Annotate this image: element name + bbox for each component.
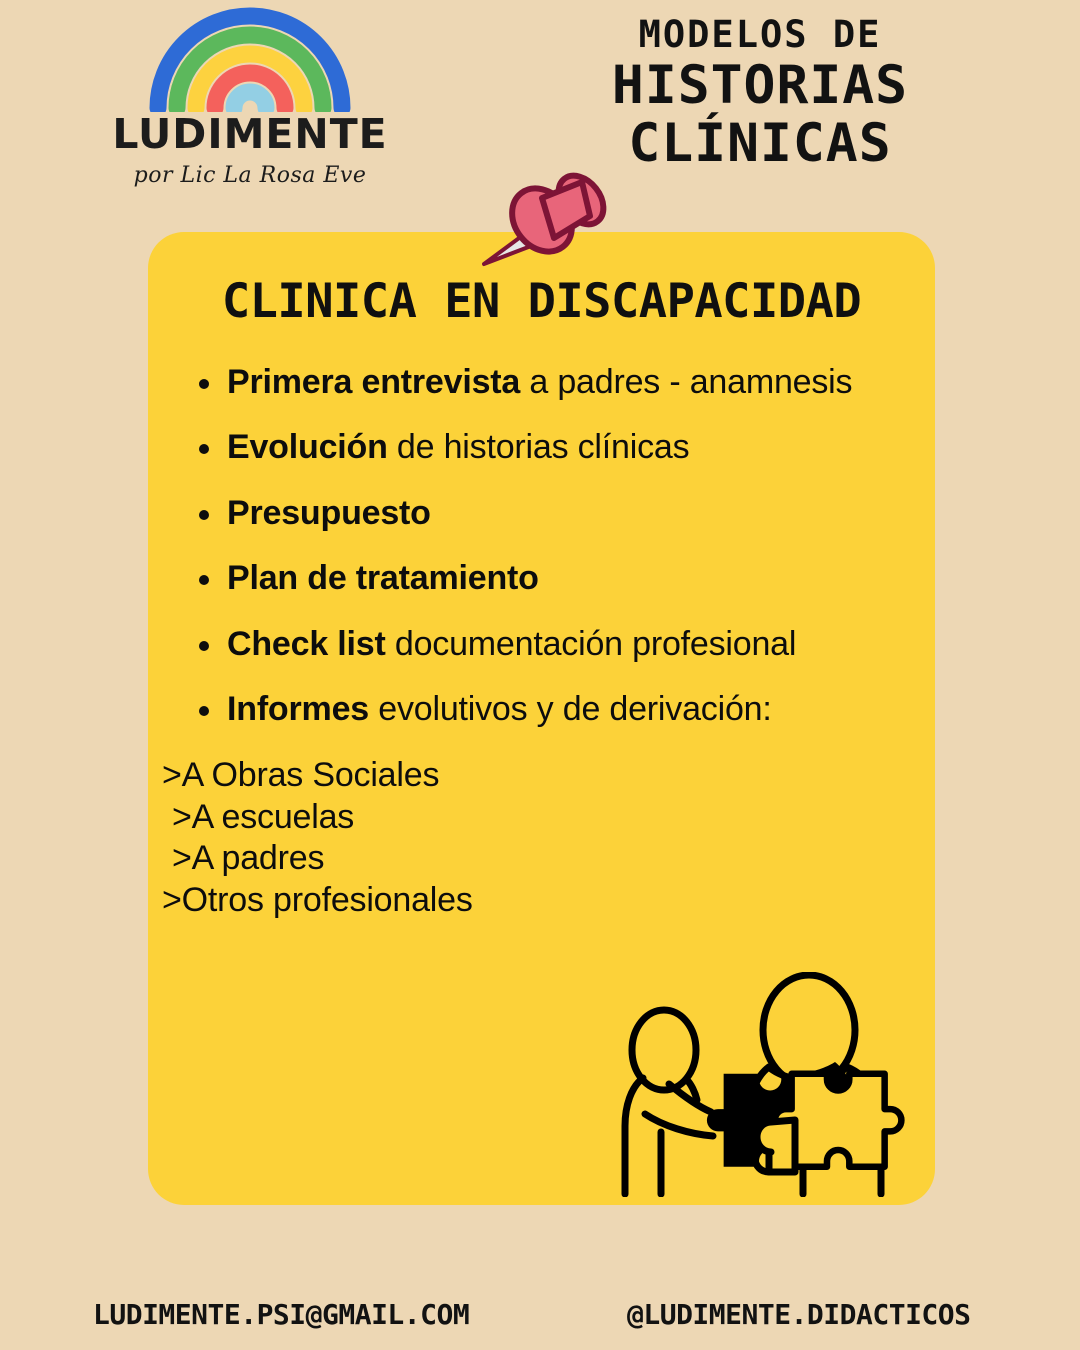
list-item-bold: Check list xyxy=(227,625,386,663)
list-item-rest: de historias clínicas xyxy=(388,428,690,466)
poster-title-line2: HISTORIAS CLÍNICAS xyxy=(480,57,1040,174)
content-card: CLINICA EN DISCAPACIDAD Primera entrevis… xyxy=(148,232,935,1205)
derivation-sub-list: >A Obras Sociales >A escuelas >A padres … xyxy=(148,755,935,921)
brand-logo-block: LUDIMENTE por Lic La Rosa Eve xyxy=(100,4,400,188)
list-item-bold: Evolución xyxy=(227,428,388,466)
list-item-rest: documentación profesional xyxy=(386,625,797,663)
sub-list-item: >A padres xyxy=(162,838,935,879)
list-item: Check list documentación profesional xyxy=(199,625,887,663)
list-item-rest: a padres - anamnesis xyxy=(520,363,852,401)
list-item: Plan de tratamiento xyxy=(199,559,887,597)
footer-email[interactable]: LUDIMENTE.PSI@GMAIL.COM xyxy=(93,1298,469,1331)
list-item-rest: evolutivos y de derivación: xyxy=(369,690,772,728)
sub-list-item: >A escuelas xyxy=(162,797,935,838)
feature-bullet-list: Primera entrevista a padres - anamnesis … xyxy=(148,363,935,728)
card-title: CLINICA EN DISCAPACIDAD xyxy=(148,274,935,329)
list-item: Informes evolutivos y de derivación: xyxy=(199,690,887,728)
rainbow-icon xyxy=(140,4,360,112)
sub-list-item: >Otros profesionales xyxy=(162,880,935,921)
poster-title-line1: MODELOS DE xyxy=(480,16,1040,55)
footer-instagram-handle[interactable]: @LUDIMENTE.DIDACTICOS xyxy=(627,1298,971,1331)
two-people-puzzle-pieces-icon xyxy=(619,972,931,1197)
brand-tagline: por Lic La Rosa Eve xyxy=(100,163,400,188)
sub-list-item: >A Obras Sociales xyxy=(162,755,935,796)
poster-title: MODELOS DE HISTORIAS CLÍNICAS xyxy=(480,16,1040,173)
list-item-bold: Presupuesto xyxy=(227,494,431,532)
pushpin-icon xyxy=(482,168,612,268)
list-item: Evolución de historias clínicas xyxy=(199,428,887,466)
list-item-bold: Informes xyxy=(227,690,369,728)
list-item-bold: Primera entrevista xyxy=(227,363,520,401)
list-item: Primera entrevista a padres - anamnesis xyxy=(199,363,887,401)
brand-name: LUDIMENTE xyxy=(100,114,400,155)
list-item: Presupuesto xyxy=(199,494,887,532)
list-item-bold: Plan de tratamiento xyxy=(227,559,539,597)
footer: LUDIMENTE.PSI@GMAIL.COM @LUDIMENTE.DIDAC… xyxy=(0,1290,1080,1350)
